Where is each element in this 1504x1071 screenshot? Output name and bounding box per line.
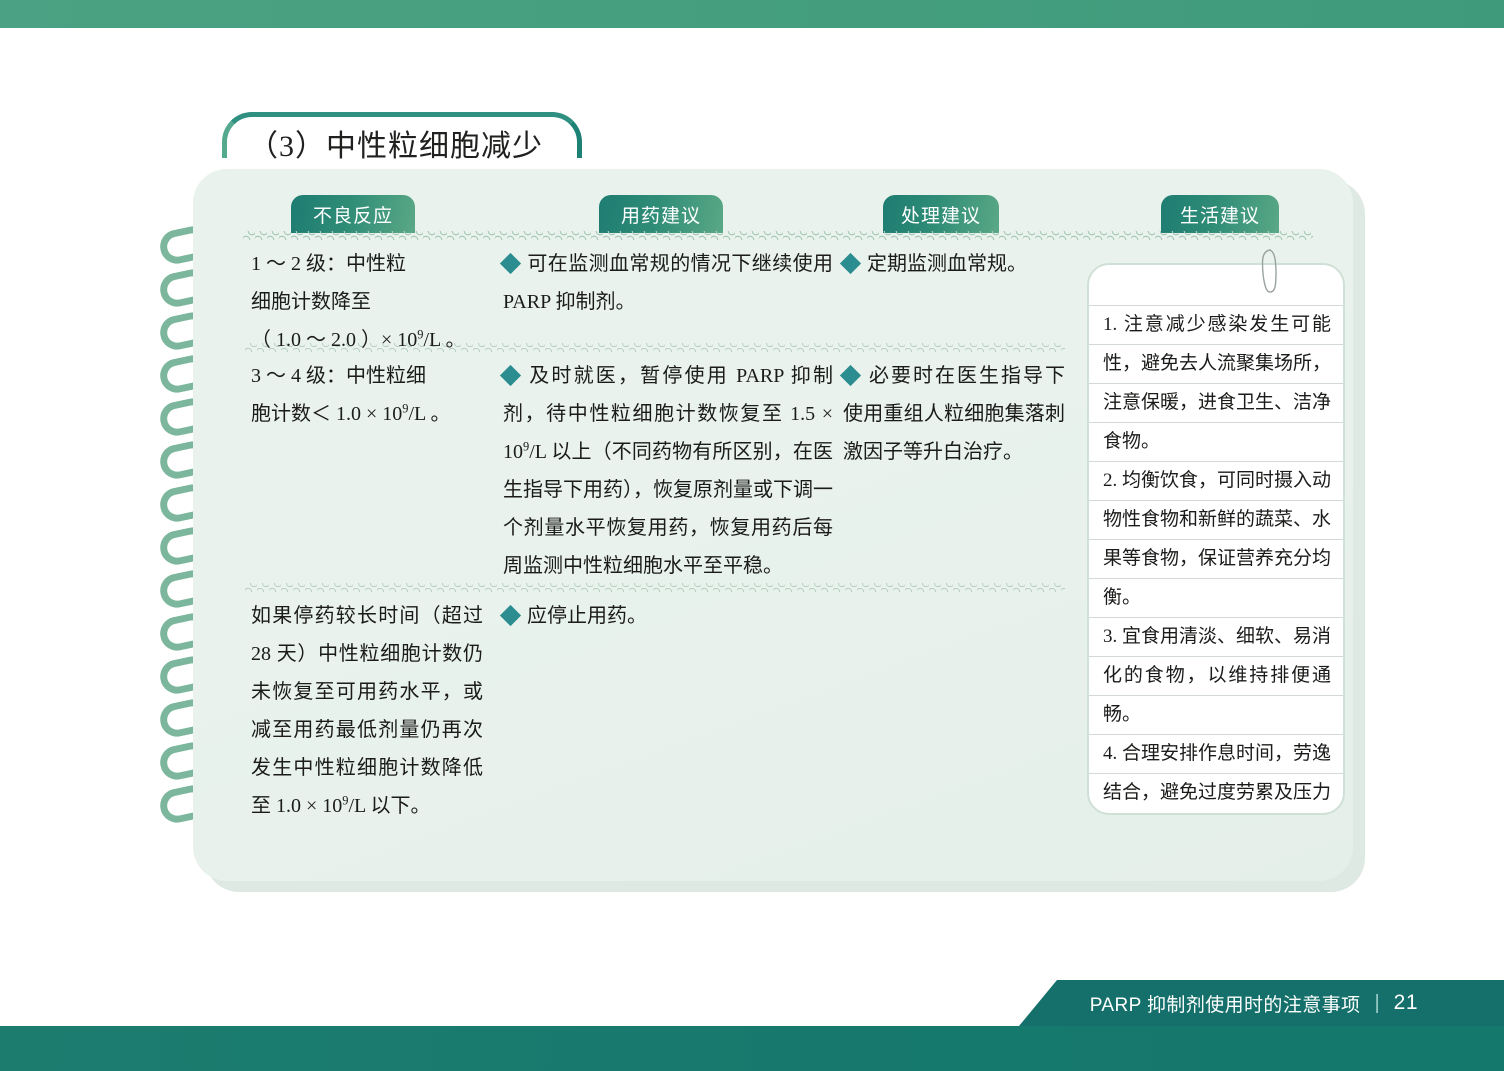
ar3-post: /L 以下。 [348,795,430,817]
section-title-container: （3）中性粒细胞减少 [222,112,582,168]
cell-adverse-reaction-3: 如果停药较长时间（超过 28 天）中性粒细胞计数仍未恢复至可用药水平，或减至用药… [251,597,483,825]
ar2-line2: 胞计数＜ 1.0 × 109/L 。 [251,395,491,433]
ma2-post: /L 以上（不同药物有所区别，在医生指导下用药），恢复原剂量或下调一个剂量水平恢… [503,441,833,577]
mg2-text: 必要时在医生指导下使用重组人粒细胞集落刺激因子等升白治疗。 [843,365,1065,463]
diamond-bullet-icon [500,365,521,386]
tab-adverse-reaction[interactable]: 不良反应 [291,195,415,233]
cell-adverse-reaction-1: 1 ～ 2 级：中性粒 细胞计数降至 （ 1.0 ～ 2.0 ）× 109/L … [251,245,483,359]
column-headers: 不良反应 用药建议 处理建议 生活建议 [193,195,1353,233]
cell-medication-advice-1: 可在监测血常规的情况下继续使用 PARP 抑制剂。 [503,245,833,321]
tab-lifestyle-advice[interactable]: 生活建议 [1161,195,1279,233]
tab-medication-advice[interactable]: 用药建议 [599,195,723,233]
cell-management-advice-1: 定期监测血常规。 [843,245,1073,283]
lifestyle-notepad: 1. 注意减少感染发生可能性，避免去人流聚集场所，注意保暖，进食卫生、洁净食物。… [1087,263,1345,815]
footer-page-number: 21 [1394,991,1418,1015]
ar1-line2: 细胞计数降至 [251,283,483,321]
lifestyle-item-3: 3. 宜食用清淡、细软、易消化的食物，以维持排便通畅。 [1103,617,1331,734]
footer-title: PARP 抑制剂使用时的注意事项 [1090,990,1361,1017]
ar2-line1: 3 ～ 4 级：中性粒细 [251,357,491,395]
ar2-line2-pre: 胞计数＜ 1.0 × 10 [251,403,402,425]
page-top-band [0,0,1504,28]
ar3-pre: 如果停药较长时间（超过 28 天）中性粒细胞计数仍未恢复至可用药水平，或减至用药… [251,605,483,817]
cell-medication-advice-3: 应停止用药。 [503,597,833,635]
ar1-line3-post: /L 。 [423,329,465,351]
cell-medication-advice-2: 及时就医，暂停使用 PARP 抑制剂，待中性粒细胞计数恢复至 1.5 × 109… [503,357,833,585]
paperclip-icon [1258,246,1284,294]
ar2-line2-post: /L 。 [408,403,450,425]
diamond-bullet-icon [500,605,521,626]
ma1-text: 可在监测血常规的情况下继续使用 PARP 抑制剂。 [503,253,833,313]
ar1-line3-pre: （ 1.0 ～ 2.0 ）× 10 [251,329,417,351]
tab-management-advice[interactable]: 处理建议 [883,195,999,233]
notepad-text: 1. 注意减少感染发生可能性，避免去人流聚集场所，注意保暖，进食卫生、洁净食物。… [1103,305,1331,815]
lifestyle-item-1: 1. 注意减少感染发生可能性，避免去人流聚集场所，注意保暖，进食卫生、洁净食物。 [1103,305,1331,461]
diamond-bullet-icon [840,365,861,386]
lifestyle-item-2: 2. 均衡饮食，可同时摄入动物性食物和新鲜的蔬菜、水果等食物，保证营养充分均衡。 [1103,461,1331,617]
ar1-line3: （ 1.0 ～ 2.0 ）× 109/L 。 [251,321,483,359]
page-bottom-band [0,1026,1504,1071]
cell-adverse-reaction-2: 3 ～ 4 级：中性粒细 胞计数＜ 1.0 × 109/L 。 [251,357,491,433]
footer-separator: | [1374,992,1379,1015]
page-footer: PARP 抑制剂使用时的注意事项 | 21 [1019,980,1504,1026]
ma3-text: 应停止用药。 [527,605,647,627]
diamond-bullet-icon [500,253,521,274]
mg1-text: 定期监测血常规。 [867,253,1027,275]
header-wavy-divider [243,231,1313,240]
footer-content: PARP 抑制剂使用时的注意事项 | 21 [1090,990,1504,1017]
ar1-line1: 1 ～ 2 级：中性粒 [251,245,483,283]
page-title: （3）中性粒细胞减少 [248,121,543,165]
cell-management-advice-2: 必要时在医生指导下使用重组人粒细胞集落刺激因子等升白治疗。 [843,357,1065,471]
lifestyle-item-4: 4. 合理安排作息时间，劳逸结合，避免过度劳累及压力过大，保持乐观情绪。 [1103,734,1331,815]
diamond-bullet-icon [840,253,861,274]
